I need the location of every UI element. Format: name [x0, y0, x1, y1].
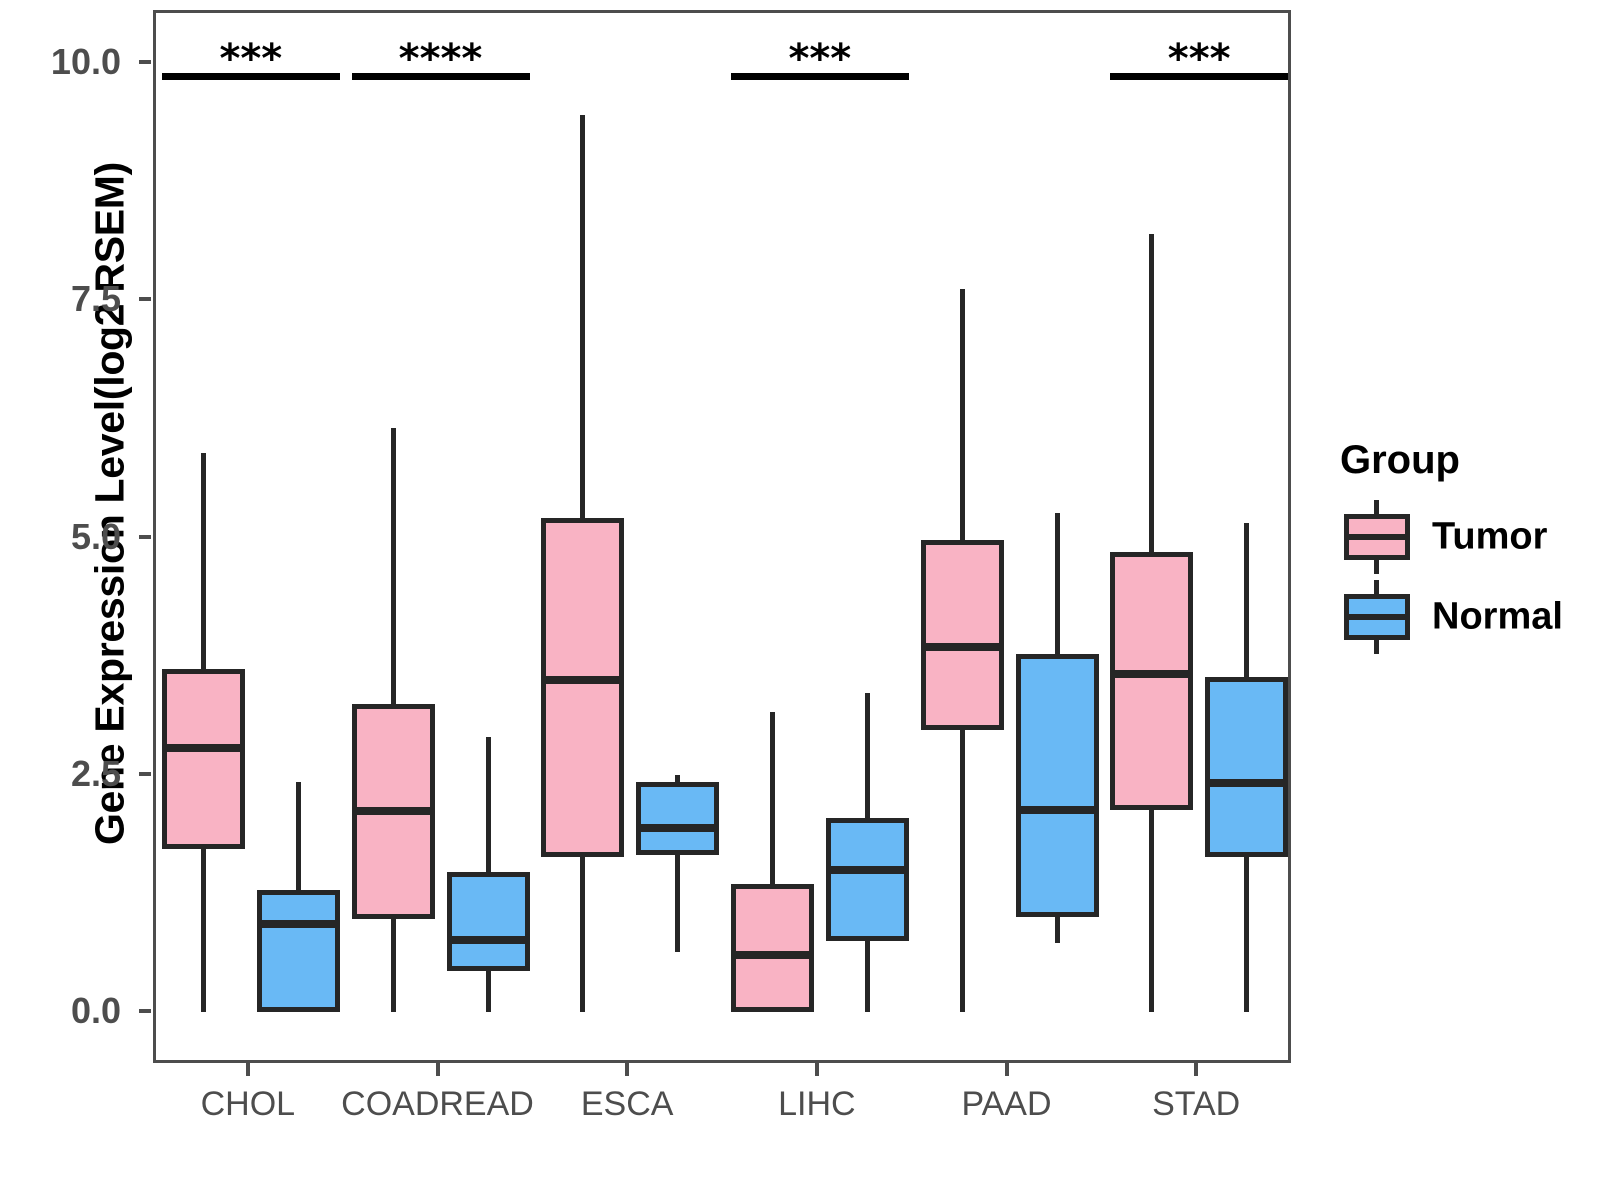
legend-label-normal: Normal	[1432, 596, 1563, 639]
x-tick-label-stad: STAD	[1152, 1085, 1240, 1124]
significance-stars: ***	[788, 39, 851, 79]
x-tick-mark	[625, 1063, 629, 1076]
x-tick-mark	[1194, 1063, 1198, 1076]
legend-key-median	[1344, 534, 1410, 540]
boxplot-box	[1205, 677, 1288, 857]
x-tick-label-paad: PAAD	[961, 1085, 1051, 1124]
x-tick-mark	[815, 1063, 819, 1076]
legend: Group TumorNormal	[0, 0, 260, 1200]
legend-key-tumor[interactable]	[1340, 500, 1414, 574]
boxplot-normal-stad	[156, 13, 1288, 1060]
legend-key-whisker-bottom	[1374, 558, 1379, 574]
legend-key-whisker-bottom	[1374, 638, 1379, 654]
significance-stars: ****	[399, 39, 483, 79]
boxplot-median-line	[1205, 779, 1288, 787]
legend-key-median	[1344, 614, 1410, 620]
legend-key-normal[interactable]	[1340, 580, 1414, 654]
legend-label-tumor: Tumor	[1432, 516, 1547, 559]
x-tick-mark	[436, 1063, 440, 1076]
x-tick-mark	[1005, 1063, 1009, 1076]
boxplot-figure: Gene Expression Level(log2 RSEM) 0.02.55…	[0, 0, 1600, 1200]
legend-title: Group	[1340, 438, 1460, 483]
x-tick-label-lihc: LIHC	[778, 1085, 855, 1124]
x-tick-label-esca: ESCA	[581, 1085, 674, 1124]
x-tick-label-coadread: COADREAD	[341, 1085, 534, 1124]
plot-panel: *************	[153, 10, 1291, 1063]
significance-stars: ***	[1168, 39, 1231, 79]
